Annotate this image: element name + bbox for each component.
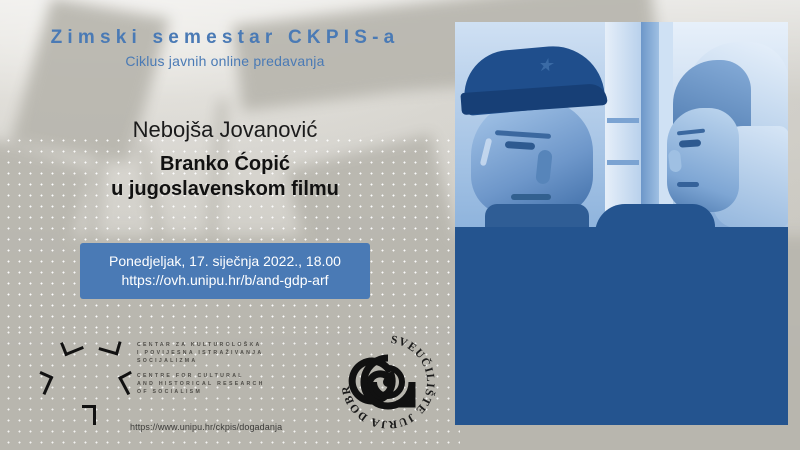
lecture-title: Branko Ćopić u jugoslavenskom filmu [0, 152, 450, 202]
event-join-url[interactable]: https://ovh.unipu.hr/b/and-gdp-arf [121, 271, 328, 290]
footer-url[interactable]: https://www.unipu.hr/ckpis/dogadanja [130, 422, 282, 432]
ckpis-en-line-3: OF SOCIALISM [137, 388, 265, 396]
film-still-photo [455, 22, 788, 425]
poster-canvas: Zimski semestar CKPIS-a Ciklus javnih on… [0, 0, 800, 450]
ckpis-en-line-1: CENTRE FOR CULTURAL [137, 372, 265, 380]
event-info-box[interactable]: Ponedjeljak, 17. siječnja 2022., 18.00 h… [80, 243, 370, 299]
speaker-name: Nebojša Jovanović [0, 117, 450, 143]
lecture-title-line-2: u jugoslavenskom filmu [0, 177, 450, 202]
university-logo: SVEUČILIŠTE JURJA DOBRILE U PULI [336, 330, 440, 434]
film-still-scene [455, 22, 788, 227]
ckpis-logo-text: CENTAR ZA KULTUROLOŠKA I POVIJESNA ISTRA… [137, 341, 265, 396]
ckpis-spacer [137, 365, 265, 372]
ckpis-en-line-2: AND HISTORICAL RESEARCH [137, 380, 265, 388]
ckpis-hr-line-3: SOCIJALIZMA [137, 357, 265, 365]
lecture-title-line-1: Branko Ćopić [0, 152, 450, 177]
header-title: Zimski semestar CKPIS-a [0, 27, 450, 49]
decorative-brackets-icon [24, 330, 134, 430]
header-subtitle: Ciklus javnih online predavanja [0, 53, 450, 69]
ckpis-hr-line-1: CENTAR ZA KULTUROLOŠKA [137, 341, 265, 349]
ckpis-hr-line-2: I POVIJESNA ISTRAŽIVANJA [137, 349, 265, 357]
event-datetime: Ponedjeljak, 17. siječnja 2022., 18.00 [109, 252, 341, 271]
spiral-icon [352, 358, 412, 406]
